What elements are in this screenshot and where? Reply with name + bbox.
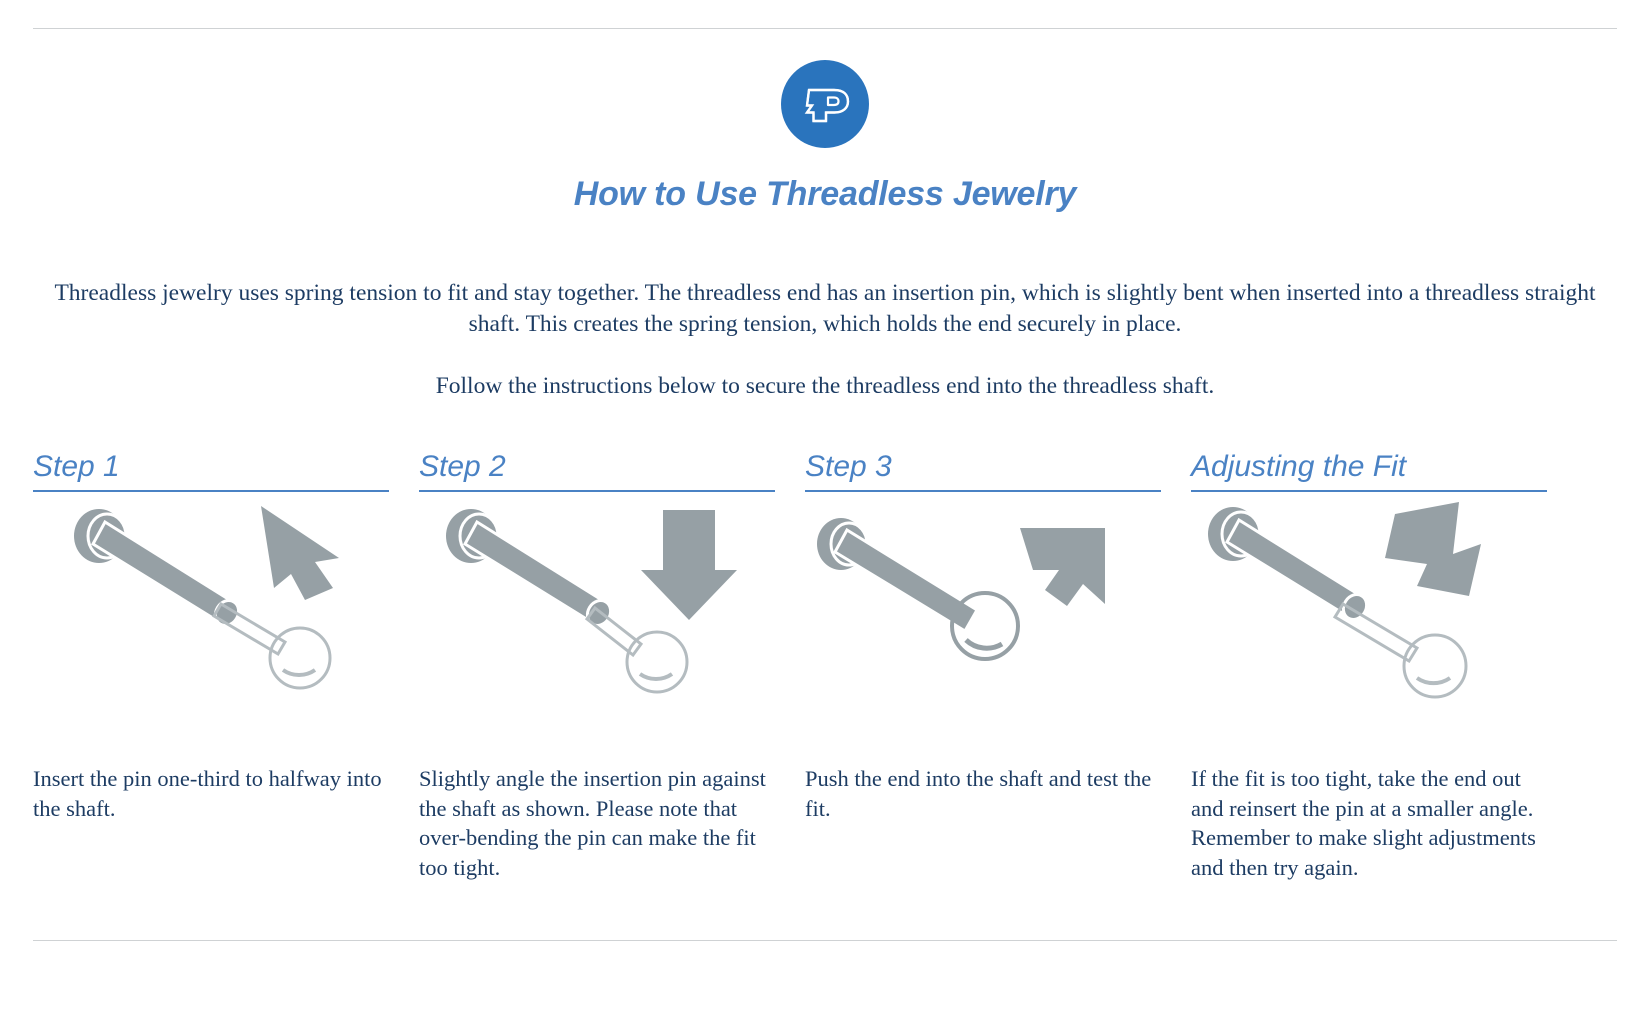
intro-paragraph-1: Threadless jewelry uses spring tension t…: [33, 278, 1617, 340]
step-illustration-2: [419, 492, 775, 764]
step-caption-1: Insert the pin one-third to halfway into…: [33, 764, 389, 823]
step-column-2: Step 2 Sl: [419, 448, 775, 882]
arrow-up-left-icon: [261, 506, 339, 600]
instruction-sheet: How to Use Threadless Jewelry Threadless…: [0, 0, 1650, 1033]
top-divider: [33, 28, 1617, 29]
step-caption-3: Push the end into the shaft and test the…: [805, 764, 1161, 823]
step-illustration-1: [33, 492, 389, 764]
step-column-1: Step 1 In: [33, 448, 389, 882]
step-heading-2: Step 2: [419, 448, 775, 486]
arrow-down-icon: [641, 510, 737, 620]
step-illustration-3: [805, 492, 1161, 764]
logo-container: [0, 60, 1650, 148]
step-heading-1: Step 1: [33, 448, 389, 486]
arrow-up-left-icon: [1020, 528, 1105, 606]
step-column-4: Adjusting the Fit: [1191, 448, 1547, 882]
step-caption-2: Slightly angle the insertion pin against…: [419, 764, 775, 882]
step-heading-3: Step 3: [805, 448, 1161, 486]
intro-text: Threadless jewelry uses spring tension t…: [33, 278, 1617, 402]
step-column-3: Step 3 Push the end into the shaft: [805, 448, 1161, 882]
brand-p-logo-icon: [781, 60, 869, 148]
jewelry-shaft: [446, 509, 615, 630]
step-caption-4: If the fit is too tight, take the end ou…: [1191, 764, 1547, 882]
steps-row: Step 1 In: [33, 448, 1617, 882]
intro-paragraph-2: Follow the instructions below to secure …: [33, 371, 1617, 402]
step-heading-4: Adjusting the Fit: [1191, 448, 1547, 486]
step-illustration-4: [1191, 492, 1547, 764]
bottom-divider: [33, 940, 1617, 941]
page-title: How to Use Threadless Jewelry: [0, 175, 1650, 214]
arrow-down-left-icon: [1385, 502, 1481, 596]
